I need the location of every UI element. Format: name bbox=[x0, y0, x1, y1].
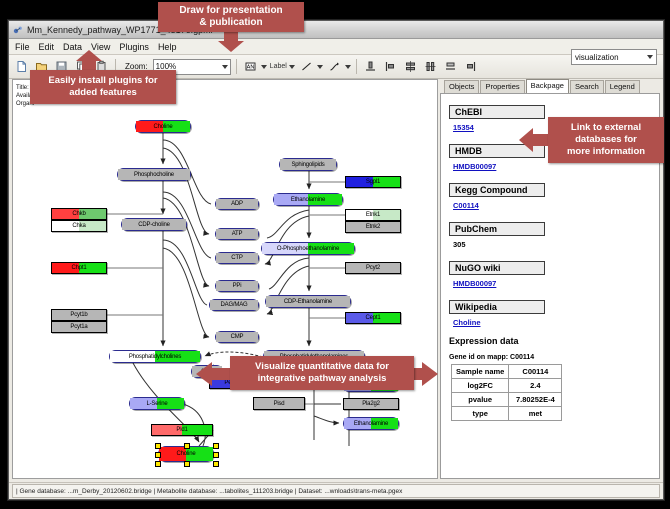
chevron-down-icon[interactable] bbox=[317, 65, 323, 69]
tab-search[interactable]: Search bbox=[570, 80, 604, 93]
align-right-icon[interactable] bbox=[462, 58, 479, 75]
expression-value: C00114 bbox=[509, 365, 562, 379]
node-label: ATP bbox=[232, 231, 243, 237]
label-dropdown[interactable]: Label bbox=[270, 63, 295, 70]
chevron-down-icon[interactable] bbox=[222, 65, 228, 69]
status-bar: | Gene database: ...m_Derby_20120602.bri… bbox=[9, 482, 663, 499]
chevron-down-icon[interactable] bbox=[289, 65, 295, 69]
new-file-icon[interactable] bbox=[13, 58, 30, 75]
plugins-callout: Easily install plugins for added feature… bbox=[30, 70, 176, 104]
pathway-node-ethanolamine-low[interactable]: Ethanolamine bbox=[343, 417, 399, 430]
db-kegg-link[interactable]: C00114 bbox=[453, 201, 653, 210]
db-pubchem-header: PubChem bbox=[449, 222, 545, 236]
links-callout-line1: Link to external bbox=[567, 122, 645, 134]
chevron-down-icon[interactable] bbox=[647, 55, 653, 59]
pathway-node-pcyt1a[interactable]: Pcyt1a bbox=[51, 321, 107, 333]
selection-handle[interactable] bbox=[155, 443, 161, 449]
pathway-node-pcyt2[interactable]: Pcyt2 bbox=[345, 262, 401, 274]
db-nugo-header: NuGO wiki bbox=[449, 261, 545, 275]
expression-value: met bbox=[509, 407, 562, 421]
interaction-dropdown[interactable] bbox=[326, 58, 351, 75]
node-label: Ethanolamine bbox=[354, 421, 388, 427]
node-label: DAG/MAG bbox=[221, 302, 248, 308]
expression-value: 2.4 bbox=[509, 379, 562, 393]
node-label: Pcyt1b bbox=[70, 312, 87, 318]
stack-icon[interactable] bbox=[442, 58, 459, 75]
tab-objects[interactable]: Objects bbox=[444, 80, 479, 93]
node-label: Pcyt2 bbox=[366, 265, 380, 271]
pathway-node-cept1[interactable]: Cept1 bbox=[345, 312, 401, 324]
expression-table: Sample name C00114 log2FC 2.4 pvalue 7.8… bbox=[451, 364, 562, 421]
toolbar-separator bbox=[356, 59, 357, 74]
expression-value: 7.80252E-4 bbox=[509, 393, 562, 407]
node-label: Chkb bbox=[72, 211, 85, 217]
selection-handle[interactable] bbox=[184, 461, 190, 467]
tab-legend[interactable]: Legend bbox=[605, 80, 640, 93]
node-label: Etnk2 bbox=[366, 224, 380, 230]
visualize-callout-arrow-right bbox=[412, 362, 438, 386]
menu-file[interactable]: File bbox=[15, 42, 30, 52]
node-label: ADP bbox=[231, 201, 243, 207]
db-wikipedia-link[interactable]: Choline bbox=[453, 318, 653, 327]
node-label: L-Serine bbox=[146, 401, 167, 407]
visualize-callout-line1: Visualize quantitative data for bbox=[255, 361, 389, 373]
draw-callout-line2: & publication bbox=[179, 17, 282, 29]
selection-handle[interactable] bbox=[155, 452, 161, 458]
draw-callout-line1: Draw for presentation bbox=[179, 5, 282, 17]
node-label: Etnk1 bbox=[366, 212, 380, 218]
db-wikipedia-header: Wikipedia bbox=[449, 300, 545, 314]
pathway-node-chka[interactable]: Chka bbox=[51, 220, 107, 232]
links-callout: Link to external databases for more info… bbox=[548, 117, 664, 163]
pathway-node-chpt1[interactable]: Chpt1 bbox=[51, 262, 107, 274]
visualize-callout-line2: integrative pathway analysis bbox=[255, 373, 389, 385]
db-pubchem: PubChem 305 bbox=[449, 219, 653, 249]
node-label: Phosphocholine bbox=[134, 172, 174, 178]
expression-key: log2FC bbox=[452, 379, 509, 393]
distribute-horizontal-icon[interactable] bbox=[422, 58, 439, 75]
node-label: Pisd bbox=[274, 401, 285, 407]
node-label: Cept1 bbox=[365, 315, 380, 321]
node-label: Choline bbox=[154, 124, 173, 130]
db-nugo-link[interactable]: HMDB00097 bbox=[453, 279, 653, 288]
expression-key: Sample name bbox=[452, 365, 509, 379]
expression-key: pvalue bbox=[452, 393, 509, 407]
plugins-callout-line1: Easily install plugins for bbox=[48, 75, 157, 87]
expression-data-heading: Expression data bbox=[449, 336, 653, 346]
node-label: CMP bbox=[231, 334, 244, 340]
pathvisio-icon bbox=[13, 25, 23, 35]
line-icon[interactable] bbox=[298, 58, 315, 75]
pathway-node-etnk2[interactable]: Etnk2 bbox=[345, 221, 401, 233]
screenshot-root: Mm_Kennedy_pathway_WP1771_45176.gpml Fil… bbox=[0, 0, 670, 509]
node-label: CTP bbox=[231, 255, 242, 261]
label-dropdown-text: Label bbox=[270, 63, 287, 70]
selection-handle[interactable] bbox=[184, 443, 190, 449]
node-label: Chpt1 bbox=[71, 265, 86, 271]
pathway-canvas[interactable]: Title: Availa Organi bbox=[12, 79, 438, 479]
draw-callout-arrow bbox=[218, 31, 244, 53]
pathway-node-sphingolipids[interactable]: Sphingolipids bbox=[279, 158, 337, 171]
db-kegg-header: Kegg Compound bbox=[449, 183, 545, 197]
pathway-node-pisd[interactable]: Pisd bbox=[253, 397, 305, 410]
node-label: Phosphatidylcholines bbox=[129, 354, 181, 360]
expression-key: type bbox=[452, 407, 509, 421]
menu-edit[interactable]: Edit bbox=[39, 42, 55, 52]
db-nugo: NuGO wiki HMDB00097 bbox=[449, 258, 653, 288]
node-label: Pcyt1a bbox=[70, 324, 87, 330]
pathway-node-ethanolamine[interactable]: Ethanolamine bbox=[273, 193, 343, 206]
node-label: Ethanolamine bbox=[291, 197, 325, 203]
chevron-down-icon[interactable] bbox=[345, 65, 351, 69]
pathway-node-cmp[interactable]: CMP bbox=[215, 331, 259, 343]
node-label: PPi bbox=[233, 283, 242, 289]
plugins-callout-line2: added features bbox=[48, 87, 157, 99]
links-callout-arrow bbox=[519, 128, 551, 152]
menu-help[interactable]: Help bbox=[158, 42, 177, 52]
pathway-node-ppi[interactable]: PPi bbox=[215, 280, 259, 292]
db-chebi-header: ChEBI bbox=[449, 105, 545, 119]
links-callout-line3: more information bbox=[567, 146, 645, 158]
interaction-icon[interactable] bbox=[326, 58, 343, 75]
node-label: Pld1 bbox=[176, 427, 187, 433]
node-label: CDP-choline bbox=[138, 222, 169, 228]
status-bar-inner: | Gene database: ...m_Derby_20120602.bri… bbox=[12, 484, 660, 498]
visualization-value: visualization bbox=[575, 53, 619, 62]
pathway-node-pld1[interactable]: Pld1 bbox=[151, 424, 213, 436]
selection-handle[interactable] bbox=[213, 461, 219, 467]
table-row: log2FC 2.4 bbox=[452, 379, 562, 393]
pathway-node-atp[interactable]: ATP bbox=[215, 228, 259, 240]
toolbar-separator bbox=[236, 59, 237, 74]
pathway-node-adp[interactable]: ADP bbox=[215, 198, 259, 210]
annotation-dropdown[interactable]: AN bbox=[242, 58, 267, 75]
node-label: Sphingolipids bbox=[291, 162, 324, 168]
table-row: Sample name C00114 bbox=[452, 365, 562, 379]
menu-plugins[interactable]: Plugins bbox=[119, 42, 149, 52]
node-label: O-Phosphoethanolamine bbox=[277, 246, 339, 252]
pathway-node-chkb[interactable]: Chkb bbox=[51, 208, 107, 220]
pathway-graph: CholinePhosphocholineCDP-cholinePhosphat… bbox=[13, 80, 437, 479]
line-dropdown[interactable] bbox=[298, 58, 323, 75]
pathway-node-phosphatidylcholines[interactable]: Phosphatidylcholines bbox=[109, 350, 201, 363]
node-label: Sgpl1 bbox=[366, 179, 380, 185]
db-hmdb-link[interactable]: HMDB00097 bbox=[453, 162, 653, 171]
draw-callout: Draw for presentation & publication bbox=[158, 2, 304, 32]
tab-backpage[interactable]: Backpage bbox=[526, 79, 569, 93]
pathway-node-o-phosphoethanolamine[interactable]: O-Phosphoethanolamine bbox=[261, 242, 355, 255]
db-kegg: Kegg Compound C00114 bbox=[449, 180, 653, 210]
node-label: Choline bbox=[177, 451, 196, 457]
db-pubchem-value: 305 bbox=[453, 240, 653, 249]
pathway-node-cdp-ethanolamine[interactable]: CDP-Ethanolamine bbox=[265, 295, 351, 308]
table-row: type met bbox=[452, 407, 562, 421]
pathway-node-l-serine-left[interactable]: L-Serine bbox=[129, 397, 185, 410]
node-label: Pla2g2 bbox=[362, 401, 379, 407]
visualization-select[interactable]: visualization bbox=[571, 49, 657, 65]
pathway-node-choline-top[interactable]: Choline bbox=[135, 120, 191, 133]
svg-text:AN: AN bbox=[246, 65, 254, 71]
gene-id-line: Gene id on mapp: C00114 bbox=[449, 354, 653, 361]
pathway-node-sgpl1[interactable]: Sgpl1 bbox=[345, 176, 401, 188]
menu-bar: File Edit Data View Plugins Help bbox=[9, 39, 663, 55]
side-panel-tabs: Objects Properties Backpage Search Legen… bbox=[440, 79, 660, 93]
links-callout-line2: databases for bbox=[567, 134, 645, 146]
plugins-callout-arrow bbox=[76, 50, 102, 72]
node-label: CDP-Ethanolamine bbox=[284, 299, 332, 305]
pathway-node-pcyt1b[interactable]: Pcyt1b bbox=[51, 309, 107, 321]
visualize-callout-arrow bbox=[196, 362, 232, 386]
pathway-node-dagmag[interactable]: DAG/MAG bbox=[209, 299, 259, 311]
align-bottom-icon[interactable] bbox=[362, 58, 379, 75]
status-text: | Gene database: ...m_Derby_20120602.bri… bbox=[16, 488, 402, 495]
visualize-callout: Visualize quantitative data for integrat… bbox=[230, 356, 414, 390]
pathway-node-cdp-choline[interactable]: CDP-choline bbox=[121, 218, 187, 231]
selection-handle[interactable] bbox=[213, 443, 219, 449]
selection-handle[interactable] bbox=[155, 461, 161, 467]
pathway-node-pla2g2[interactable]: Pla2g2 bbox=[343, 398, 399, 410]
node-label: Chka bbox=[72, 223, 85, 229]
align-left-icon[interactable] bbox=[382, 58, 399, 75]
tab-properties[interactable]: Properties bbox=[480, 80, 524, 93]
title-bar: Mm_Kennedy_pathway_WP1771_45176.gpml bbox=[9, 21, 663, 39]
table-row: pvalue 7.80252E-4 bbox=[452, 393, 562, 407]
pathway-node-etnk1[interactable]: Etnk1 bbox=[345, 209, 401, 221]
selection-handle[interactable] bbox=[213, 452, 219, 458]
annotation-icon[interactable]: AN bbox=[242, 58, 259, 75]
chevron-down-icon[interactable] bbox=[261, 65, 267, 69]
pathway-node-phosphocholine[interactable]: Phosphocholine bbox=[117, 168, 191, 181]
distribute-vertical-icon[interactable] bbox=[402, 58, 419, 75]
pathway-node-ctp[interactable]: CTP bbox=[215, 252, 259, 264]
db-wikipedia: Wikipedia Choline bbox=[449, 297, 653, 327]
